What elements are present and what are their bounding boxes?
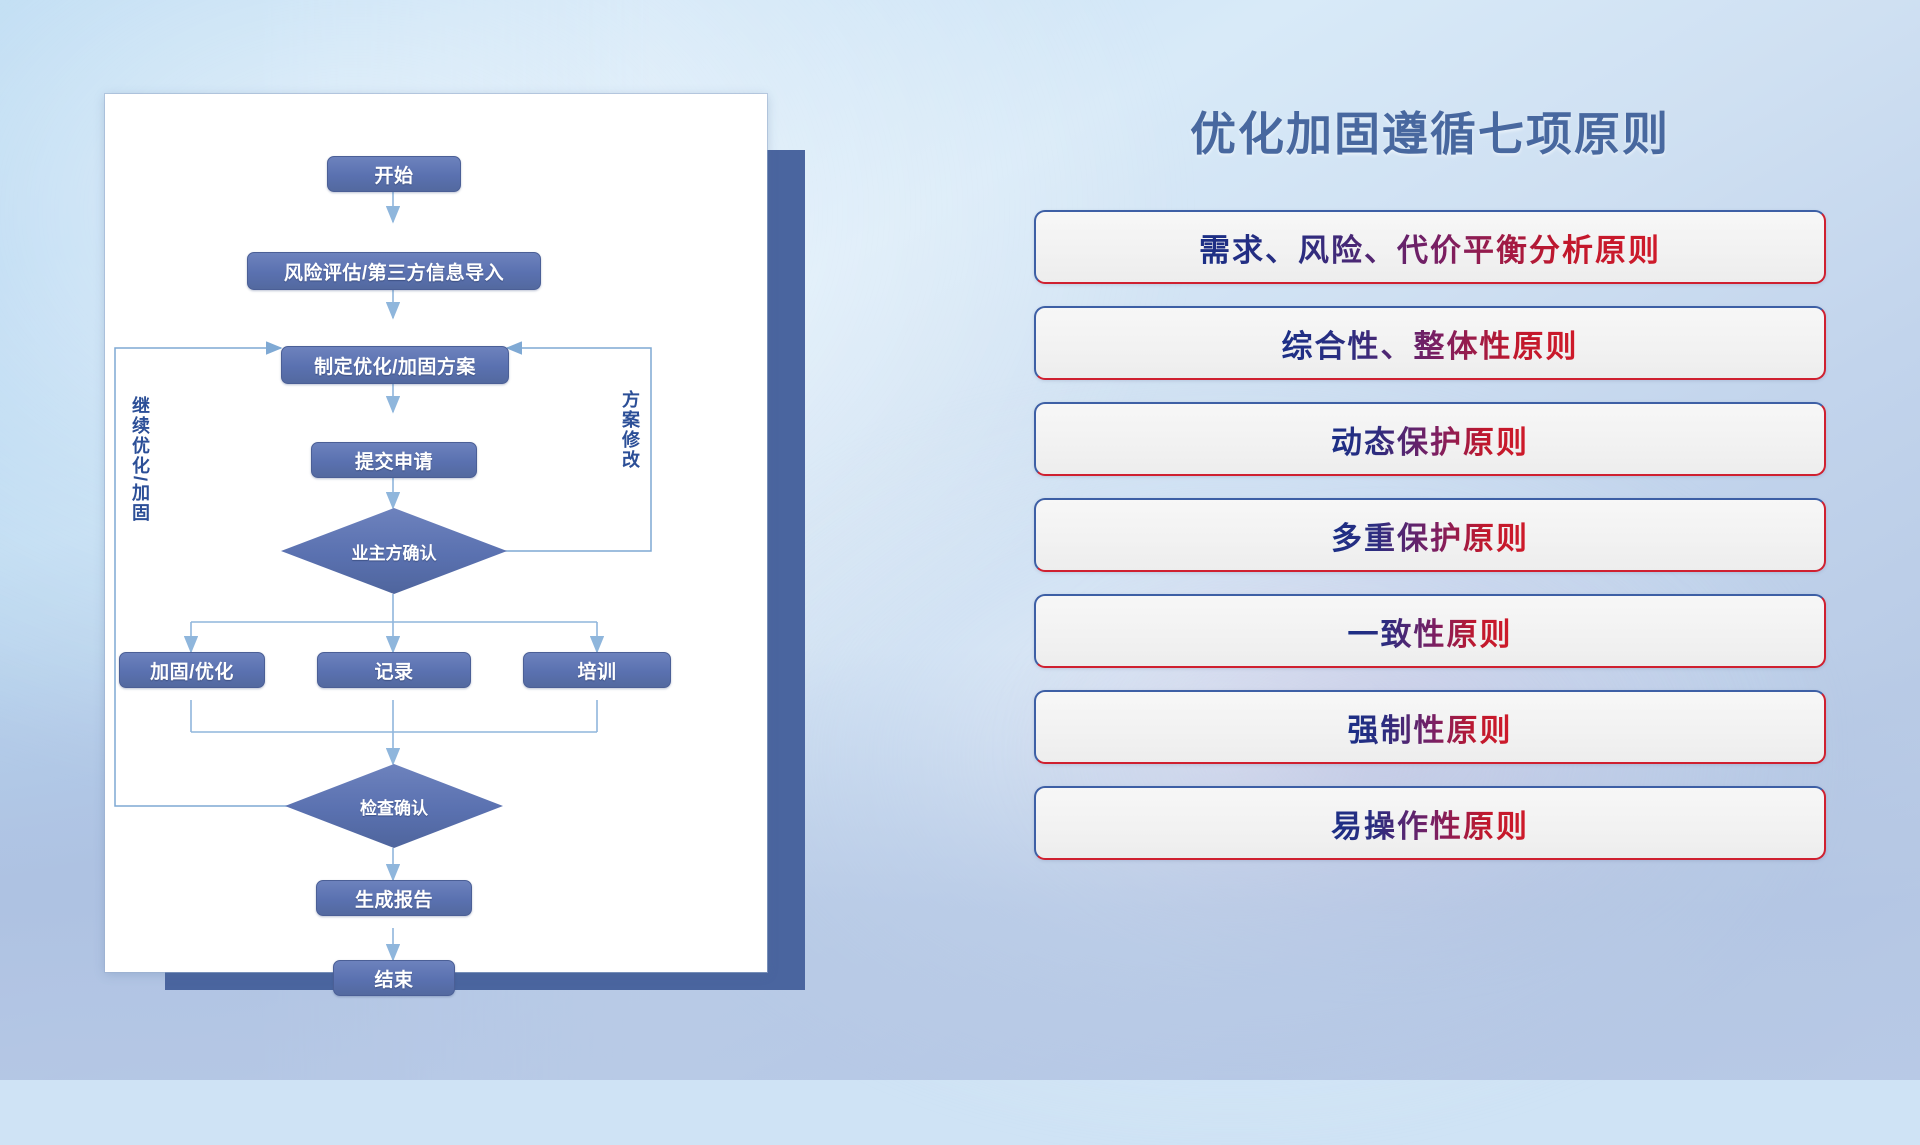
flow-node-end-label: 结束 <box>374 965 413 992</box>
flow-node-plan-label: 制定优化/加固方案 <box>314 352 476 379</box>
flow-edge-label-continue-optimize: 继续优化/加固 <box>127 396 153 523</box>
principle-item-2[interactable]: 综合性、整体性原则 <box>1034 306 1826 380</box>
flow-node-reinforce-label: 加固/优化 <box>150 657 234 684</box>
flow-node-record-label: 记录 <box>374 657 413 684</box>
flow-node-report[interactable]: 生成报告 <box>316 880 472 916</box>
flow-node-reinforce[interactable]: 加固/优化 <box>119 652 265 688</box>
flow-node-check-confirm[interactable]: 检查确认 <box>285 764 503 848</box>
principle-item-5[interactable]: 一致性原则 <box>1034 594 1826 668</box>
flow-node-submit[interactable]: 提交申请 <box>311 442 477 478</box>
flowchart-card: 开始 风险评估/第三方信息导入 制定优化/加固方案 提交申请 业主方确认 加固/… <box>105 94 767 972</box>
flow-node-plan[interactable]: 制定优化/加固方案 <box>281 346 509 384</box>
principle-item-7[interactable]: 易操作性原则 <box>1034 786 1826 860</box>
principle-item-4-label: 多重保护原则 <box>1331 513 1529 558</box>
principles-title: 优化加固遵循七项原则 <box>1010 98 1850 164</box>
principles-list: 需求、风险、代价平衡分析原则 综合性、整体性原则 动态保护原则 多重保护原则 一… <box>1010 210 1850 860</box>
flow-node-training-label: 培训 <box>577 657 616 684</box>
flow-node-risk-assessment[interactable]: 风险评估/第三方信息导入 <box>247 252 541 290</box>
flow-node-check-confirm-label: 检查确认 <box>360 794 428 819</box>
principle-item-3[interactable]: 动态保护原则 <box>1034 402 1826 476</box>
flow-node-report-label: 生成报告 <box>355 885 433 912</box>
flow-node-risk-assessment-label: 风险评估/第三方信息导入 <box>284 258 504 285</box>
flow-node-start[interactable]: 开始 <box>327 156 461 192</box>
principles-panel: 优化加固遵循七项原则 需求、风险、代价平衡分析原则 综合性、整体性原则 动态保护… <box>1010 70 1850 1030</box>
principle-item-1-label: 需求、风险、代价平衡分析原则 <box>1199 225 1661 270</box>
flow-node-training[interactable]: 培训 <box>523 652 671 688</box>
flowchart-diagram: 开始 风险评估/第三方信息导入 制定优化/加固方案 提交申请 业主方确认 加固/… <box>105 94 767 972</box>
flow-edge-label-plan-revision: 方案修改 <box>617 390 643 470</box>
principle-item-1[interactable]: 需求、风险、代价平衡分析原则 <box>1034 210 1826 284</box>
principle-item-4[interactable]: 多重保护原则 <box>1034 498 1826 572</box>
flow-node-record[interactable]: 记录 <box>317 652 471 688</box>
flow-node-end[interactable]: 结束 <box>333 960 455 996</box>
principle-item-6-label: 强制性原则 <box>1348 705 1513 750</box>
flow-node-start-label: 开始 <box>374 161 413 188</box>
principle-item-7-label: 易操作性原则 <box>1331 801 1529 846</box>
flow-node-owner-confirm[interactable]: 业主方确认 <box>281 508 507 594</box>
principle-item-6[interactable]: 强制性原则 <box>1034 690 1826 764</box>
flow-node-submit-label: 提交申请 <box>355 447 433 474</box>
principle-item-3-label: 动态保护原则 <box>1331 417 1529 462</box>
flow-node-owner-confirm-label: 业主方确认 <box>352 539 437 564</box>
principle-item-5-label: 一致性原则 <box>1348 609 1513 654</box>
principle-item-2-label: 综合性、整体性原则 <box>1282 321 1579 366</box>
